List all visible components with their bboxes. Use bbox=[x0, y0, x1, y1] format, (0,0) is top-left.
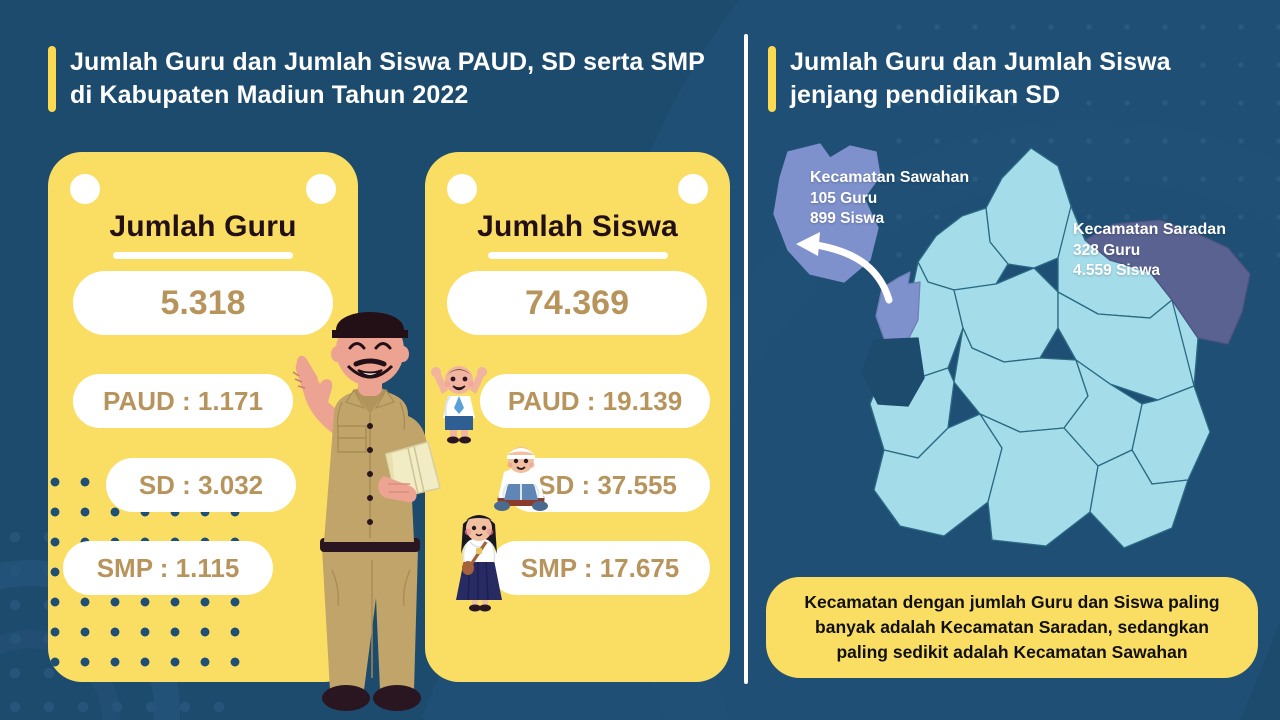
card-guru-row-paud: PAUD : 1.171 bbox=[73, 374, 293, 428]
sawahan-student-count: 899 Siswa bbox=[810, 209, 969, 229]
sawahan-district-name: Kecamatan Sawahan bbox=[810, 168, 969, 189]
map-label-sawahan: Kecamatan Sawahan 105 Guru 899 Siswa bbox=[810, 168, 969, 229]
left-title-text: Jumlah Guru dan Jumlah Siswa PAUD, SD se… bbox=[70, 46, 708, 112]
card-siswa-total-value: 74.369 bbox=[447, 271, 707, 335]
right-title-text: Jumlah Guru dan Jumlah Siswa jenjang pen… bbox=[790, 46, 1238, 112]
map-label-saradan: Kecamatan Saradan 328 Guru 4.559 Siswa bbox=[1073, 220, 1226, 281]
summary-note-box: Kecamatan dengan jumlah Guru dan Siswa p… bbox=[766, 577, 1258, 678]
card-siswa-row-smp: SMP : 17.675 bbox=[490, 541, 710, 595]
card-hole-right-icon bbox=[678, 174, 708, 204]
girl-student-illustration bbox=[450, 508, 508, 612]
left-panel-title: Jumlah Guru dan Jumlah Siswa PAUD, SD se… bbox=[48, 46, 708, 112]
left-panel: Jumlah Guru dan Jumlah Siswa PAUD, SD se… bbox=[0, 0, 744, 720]
saradan-student-count: 4.559 Siswa bbox=[1073, 261, 1226, 281]
card-siswa-title: Jumlah Siswa bbox=[425, 210, 730, 244]
sitting-student-illustration bbox=[488, 442, 554, 514]
card-hole-left-icon bbox=[70, 174, 100, 204]
title-accent-bar bbox=[768, 46, 776, 112]
card-guru-title: Jumlah Guru bbox=[48, 210, 358, 244]
saradan-teacher-count: 328 Guru bbox=[1073, 241, 1226, 261]
card-hole-left-icon bbox=[447, 174, 477, 204]
boy-student-illustration bbox=[428, 358, 490, 444]
card-siswa-row-paud: PAUD : 19.139 bbox=[480, 374, 710, 428]
right-panel-title: Jumlah Guru dan Jumlah Siswa jenjang pen… bbox=[768, 46, 1238, 112]
card-hole-right-icon bbox=[306, 174, 336, 204]
card-guru-row-smp: SMP : 1.115 bbox=[63, 541, 273, 595]
card-siswa-underline bbox=[488, 252, 668, 259]
right-panel: Jumlah Guru dan Jumlah Siswa jenjang pen… bbox=[748, 0, 1280, 720]
saradan-district-name: Kecamatan Saradan bbox=[1073, 220, 1226, 241]
title-accent-bar bbox=[48, 46, 56, 112]
card-guru-underline bbox=[113, 252, 293, 259]
sawahan-teacher-count: 105 Guru bbox=[810, 189, 969, 209]
